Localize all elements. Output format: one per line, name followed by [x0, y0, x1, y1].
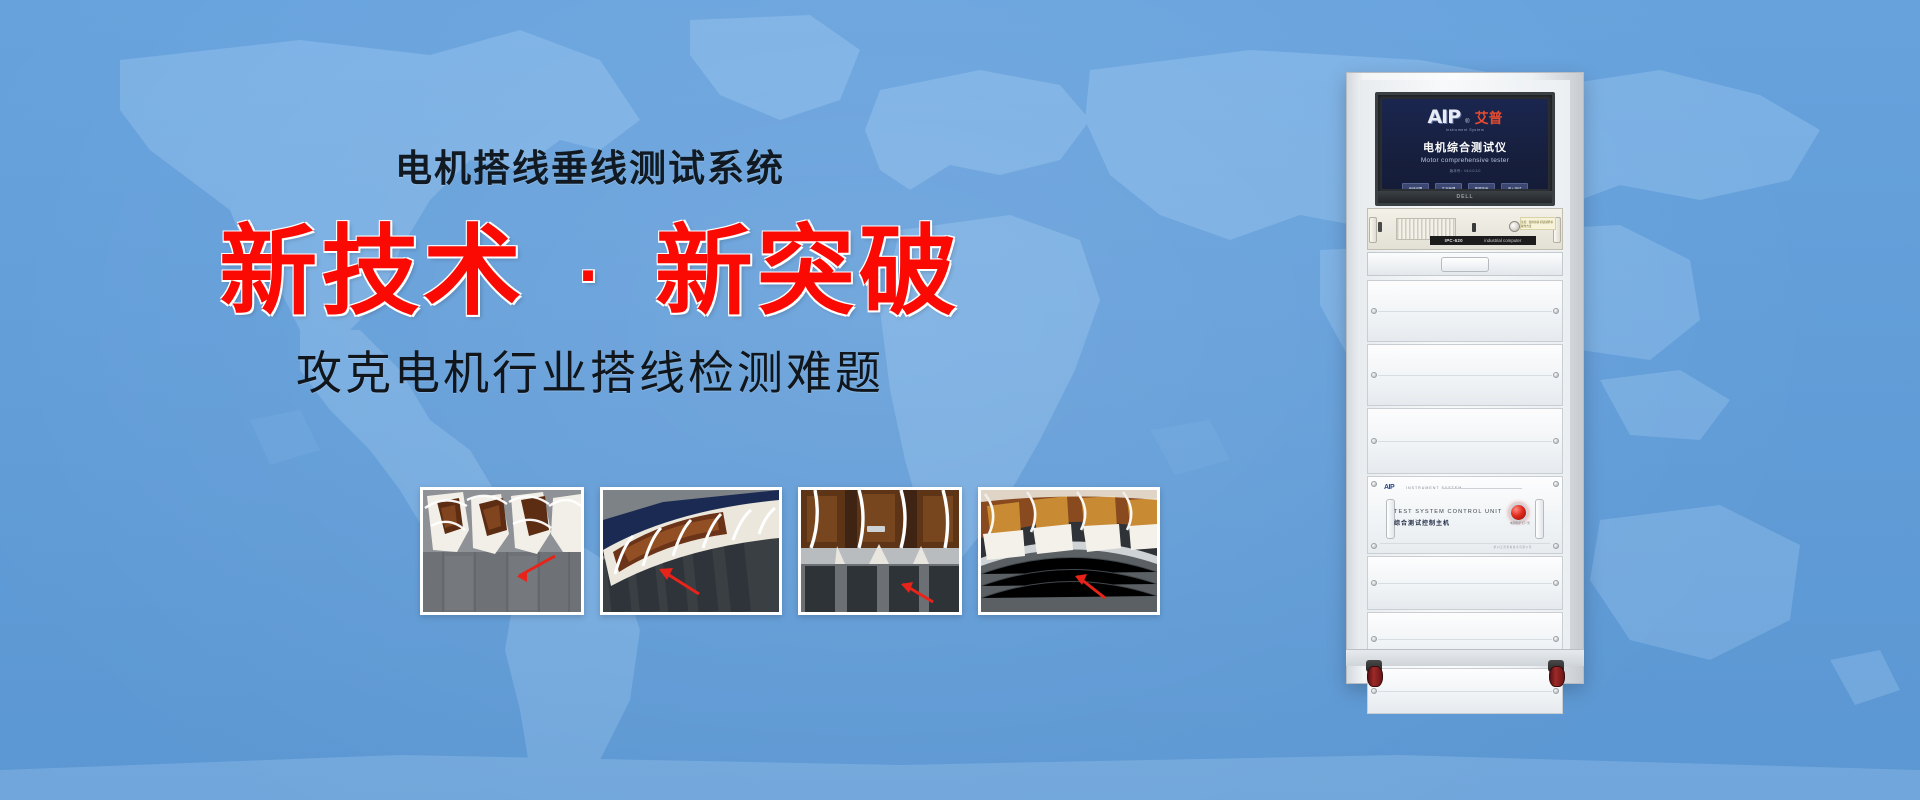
product-photo-strip	[420, 487, 1160, 615]
power-indicator-label: 电源指示 灯 / 光	[1508, 521, 1532, 525]
hero-eyebrow: 电机搭线垂线测试系统	[0, 150, 1180, 187]
industrial-computer-unit: 注意：使用前请 阅读说明书 操作方法 IPC-620 industrial co…	[1367, 208, 1563, 250]
cabinet-caster-left	[1364, 660, 1384, 686]
hero-text-block: 电机搭线垂线测试系统 新技术 · 新突破 攻克电机行业搭线检测难题	[0, 150, 1180, 396]
rack-blank-panel-4	[1367, 556, 1563, 610]
stator-winding-photo-4	[978, 487, 1160, 615]
ipc-model-desc: industrial computer	[1484, 238, 1521, 243]
ipc-warning-label: 注意：使用前请 阅读说明书 操作方法	[1520, 217, 1556, 230]
cabinet-monitor: AIP ® 艾普 Instrument System 电机综合测试仪 Motor…	[1375, 92, 1555, 206]
stator-winding-photo-3	[798, 487, 962, 615]
ctrl-screw-top-right	[1553, 481, 1559, 487]
aip-logo-text: AIP	[1427, 108, 1460, 127]
ipc-keyhole-icon	[1378, 222, 1382, 232]
aip-logo-chinese: 艾普	[1475, 112, 1503, 126]
monitor-brand-label: DELL	[1456, 194, 1473, 200]
aip-logo: AIP ® 艾普	[1382, 108, 1548, 127]
hero-banner: 电机搭线垂线测试系统 新技术 · 新突破 攻克电机行业搭线检测难题	[0, 0, 1920, 800]
hero-headline-separator: ·	[563, 248, 616, 307]
ctrl-aip-brand: AIP	[1384, 484, 1394, 491]
ctrl-bottom-rule	[1380, 543, 1550, 544]
hero-headline-right: 新突破	[655, 215, 961, 329]
registered-mark-icon: ®	[1465, 119, 1469, 125]
monitor-button-row: 系统设置 生产管理 数据查询 进入测试	[1382, 183, 1548, 189]
hero-subline: 攻克电机行业搭线检测难题	[0, 350, 1180, 396]
rack-blank-panel-6	[1367, 668, 1563, 714]
monitor-button-start-test[interactable]: 进入测试	[1501, 183, 1528, 189]
monitor-version-note: 版本号：V4.0.0.3.0	[1382, 169, 1548, 174]
power-indicator-lamp[interactable]	[1509, 503, 1528, 522]
ipc-power-knob[interactable]	[1509, 221, 1520, 232]
test-system-control-unit: AIP INSTRUMENT SYSTEM TEST SYSTEM CONTRO…	[1367, 476, 1563, 554]
ipc-handle-left[interactable]	[1369, 217, 1377, 243]
ipc-model: IPC-620	[1445, 238, 1463, 243]
monitor-button-production[interactable]: 生产管理	[1435, 183, 1462, 189]
world-map-background	[0, 0, 1920, 800]
hero-headline-left: 新技术	[219, 215, 525, 329]
monitor-title-cn: 电机综合测试仪	[1382, 139, 1548, 155]
ctrl-handle-right[interactable]	[1535, 499, 1544, 539]
rack-blank-panel-3	[1367, 408, 1563, 474]
monitor-bezel-bottom: DELL	[1378, 191, 1552, 203]
drawer-pull-handle[interactable]	[1441, 257, 1489, 272]
cabinet-rack-interior: AIP ® 艾普 Instrument System 电机综合测试仪 Motor…	[1360, 80, 1570, 654]
test-system-cabinet: AIP ® 艾普 Instrument System 电机综合测试仪 Motor…	[1346, 72, 1584, 684]
stator-winding-photo-1	[420, 487, 584, 615]
ctrl-company-footnote: 杭州艾普机电技术有限公司	[1494, 545, 1532, 549]
hero-headline: 新技术 · 新突破	[0, 221, 1180, 324]
cabinet-drawer[interactable]	[1367, 252, 1563, 276]
rack-blank-panel-1	[1367, 280, 1563, 342]
ctrl-screw-bottom-right	[1553, 543, 1559, 549]
rack-blank-panel-2	[1367, 344, 1563, 406]
monitor-screen: AIP ® 艾普 Instrument System 电机综合测试仪 Motor…	[1382, 99, 1548, 189]
monitor-button-settings[interactable]: 系统设置	[1402, 183, 1429, 189]
ipc-usb-port-icon[interactable]	[1472, 223, 1476, 232]
ctrl-caption-cn: 综合测试控制主机	[1394, 518, 1450, 527]
aip-logo-subtitle: Instrument System	[1382, 128, 1548, 132]
ipc-nameplate: IPC-620 industrial computer	[1430, 236, 1536, 245]
ctrl-divider-rule	[1442, 488, 1522, 489]
cabinet-caster-right	[1546, 660, 1566, 686]
ctrl-caption-en: TEST SYSTEM CONTROL UNIT	[1394, 509, 1502, 515]
monitor-button-query[interactable]: 数据查询	[1468, 183, 1495, 189]
stator-winding-photo-2	[600, 487, 782, 615]
ctrl-screw-bottom-left	[1371, 543, 1377, 549]
ctrl-screw-top-left	[1371, 481, 1377, 487]
monitor-title-en: Motor comprehensive tester	[1382, 157, 1548, 164]
